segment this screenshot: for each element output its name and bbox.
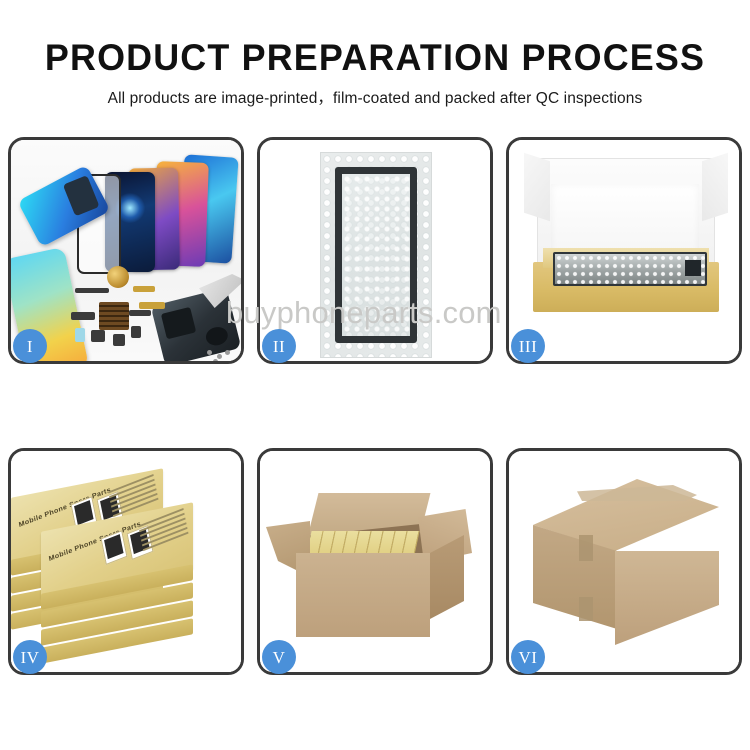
product-preparation-infographic: PRODUCT PREPARATION PROCESS All products…	[0, 0, 750, 750]
small-part-6	[91, 330, 105, 342]
flex-cable-3	[139, 302, 165, 309]
step-badge-1: I	[13, 329, 47, 363]
step-card-1[interactable]: I	[8, 137, 244, 364]
repair-parts-group	[69, 268, 241, 361]
screws-group	[207, 350, 233, 361]
small-part-5	[75, 328, 85, 342]
photo-phones-and-parts	[11, 140, 241, 361]
steps-grid: I II	[8, 137, 742, 675]
wrapped-screen	[335, 167, 417, 343]
page-title: PRODUCT PREPARATION PROCESS	[11, 0, 739, 80]
photo-stacked-boxes: Mobile Phone Spare Parts Mobil	[11, 451, 241, 672]
step-badge-3: III	[511, 329, 545, 363]
step-image-4: Mobile Phone Spare Parts Mobil	[11, 451, 241, 672]
photo-open-inner-box	[509, 140, 739, 361]
packing-tape-seam-1	[579, 535, 593, 561]
packing-tape-seam-2	[579, 597, 593, 621]
box-stack: Mobile Phone Spare Parts Mobil	[11, 465, 241, 665]
photo-bubble-wrapped-screen	[260, 140, 490, 361]
photo-sealed-carton	[509, 451, 739, 672]
small-part-7	[113, 334, 125, 346]
step-badge-2: II	[262, 329, 296, 363]
header: PRODUCT PREPARATION PROCESS All products…	[0, 0, 750, 109]
carton-right-face-sealed	[615, 551, 719, 645]
step-badge-5: V	[262, 640, 296, 674]
step-card-4[interactable]: Mobile Phone Spare Parts Mobil	[8, 448, 244, 675]
step-image-3	[509, 140, 739, 361]
box-label-list-2	[138, 508, 190, 558]
page-subtitle: All products are image-printed，film-coat…	[0, 80, 750, 109]
step-image-1	[11, 140, 241, 361]
wrapped-screen-in-box	[553, 252, 707, 286]
coil-part-icon	[107, 266, 129, 288]
kraft-box-base	[533, 262, 719, 312]
flex-cable-2	[133, 286, 155, 292]
step-card-6[interactable]: VI	[506, 448, 742, 675]
phone-lineup	[63, 152, 241, 282]
step-image-6	[509, 451, 739, 672]
photo-carton-filling	[260, 451, 490, 672]
small-part-8	[131, 326, 141, 338]
carton-front-face	[296, 553, 430, 637]
small-part-9	[129, 310, 151, 316]
step-card-3[interactable]: III	[506, 137, 742, 364]
flex-cable-4	[71, 312, 95, 320]
step-badge-6: VI	[511, 640, 545, 674]
step-image-2	[260, 140, 490, 361]
step-badge-4: IV	[13, 640, 47, 674]
step-card-2[interactable]: II	[257, 137, 493, 364]
chip-grid-part	[99, 302, 129, 330]
step-image-5	[260, 451, 490, 672]
open-shipping-carton	[290, 507, 462, 637]
bubble-wrap-sheet	[320, 152, 432, 358]
sealed-shipping-carton	[533, 479, 719, 643]
flex-cable-1	[75, 288, 109, 293]
step-card-5[interactable]: V	[257, 448, 493, 675]
